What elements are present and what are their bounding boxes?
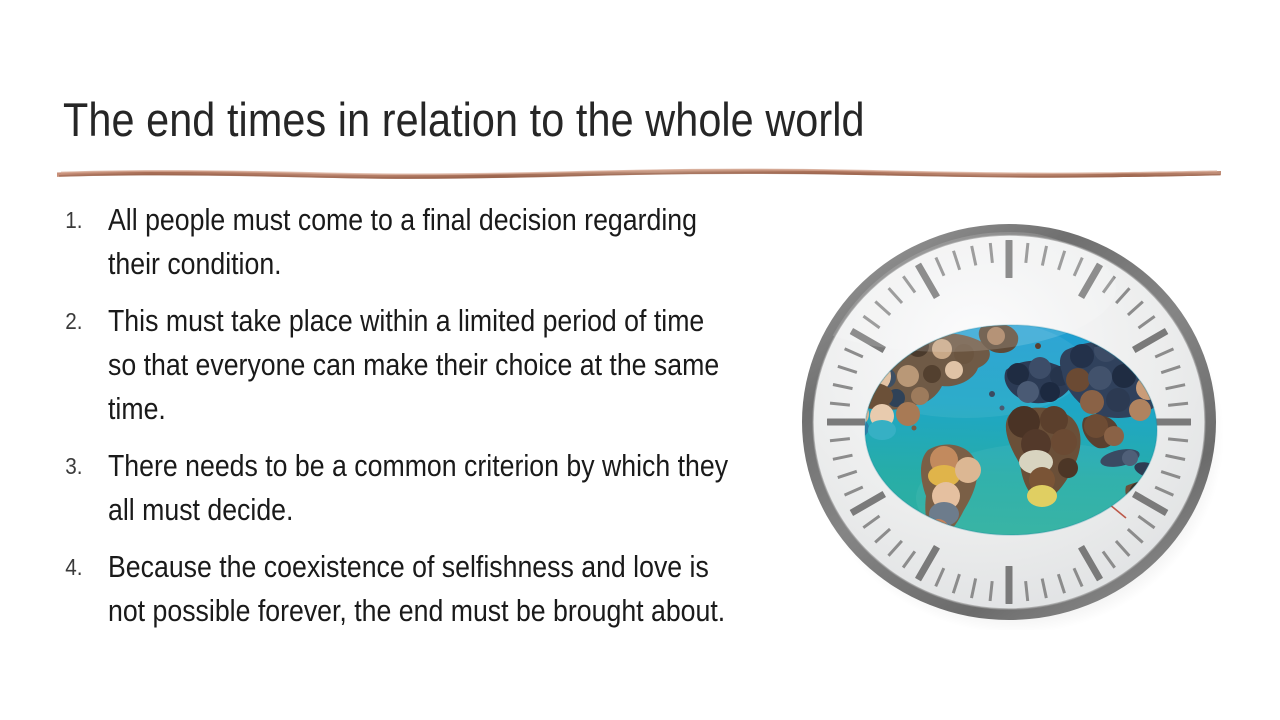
page-title: The end times in relation to the whole w… — [63, 96, 1084, 143]
list-item: 1. All people must come to a final decis… — [58, 198, 818, 286]
list-item-number: 2. — [58, 299, 103, 343]
list-item-number: 4. — [58, 545, 103, 589]
title-divider — [55, 162, 1223, 184]
brushstroke-divider-icon — [55, 162, 1223, 184]
numbered-list: 1. All people must come to a final decis… — [58, 198, 818, 646]
list-item-text: All people must come to a final decision… — [108, 198, 729, 286]
list-item: 2. This must take place within a limited… — [58, 299, 818, 431]
list-item-text: There needs to be a common criterion by … — [108, 444, 729, 532]
list-item-text: Because the coexistence of selfishness a… — [108, 545, 729, 633]
list-item-text: This must take place within a limited pe… — [108, 299, 729, 431]
slide-canvas: The end times in relation to the whole w… — [0, 0, 1280, 720]
list-item: 4. Because the coexistence of selfishnes… — [58, 545, 818, 633]
list-item-number: 3. — [58, 444, 103, 488]
world-clock-image — [796, 218, 1226, 630]
list-item-number: 1. — [58, 198, 103, 242]
world-clock-graphic-icon — [796, 218, 1226, 630]
list-item: 3. There needs to be a common criterion … — [58, 444, 818, 532]
